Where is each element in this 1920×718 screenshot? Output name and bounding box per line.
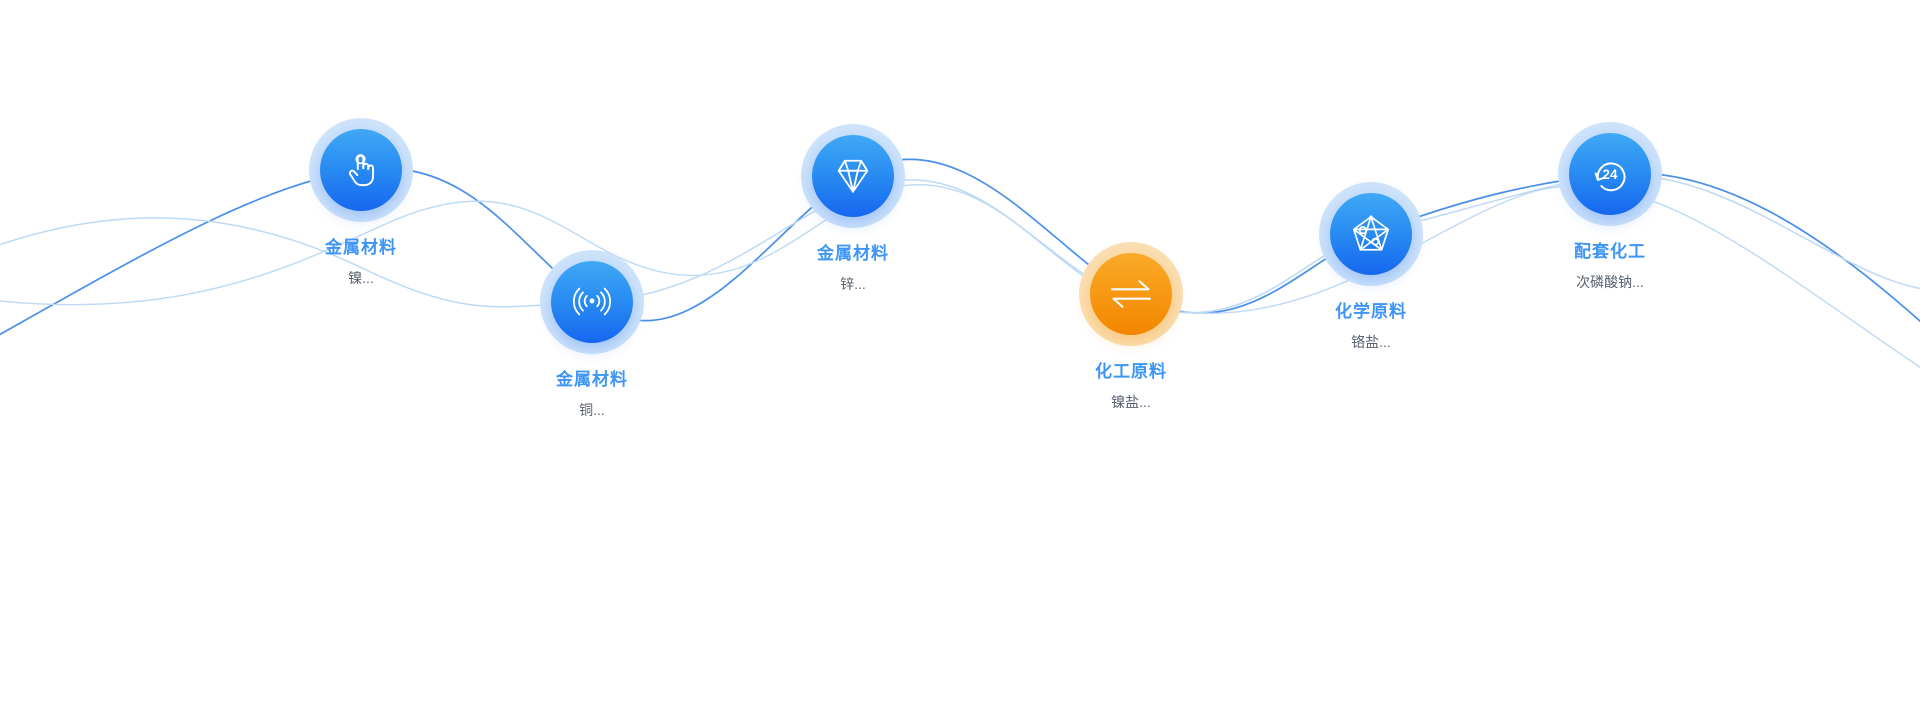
node-halo — [1319, 182, 1423, 286]
node-halo: 24 — [1558, 122, 1662, 226]
node-subtitle: 镍... — [348, 270, 374, 287]
node-disc[interactable] — [1090, 253, 1172, 335]
node-disc[interactable] — [812, 135, 894, 217]
reversible-arrows-icon — [1107, 277, 1155, 311]
node-title: 金属材料 — [325, 238, 397, 258]
flow-node-6[interactable]: 24 配套化工次磷酸钠... — [1500, 122, 1720, 291]
node-halo — [309, 118, 413, 222]
node-title: 金属材料 — [817, 244, 889, 264]
flow-node-5[interactable]: 化学原料铬盐... — [1261, 182, 1481, 351]
node-halo — [1079, 242, 1183, 346]
node-title: 化工原料 — [1095, 362, 1167, 382]
flow-node-2[interactable]: 金属材料铜... — [482, 250, 702, 419]
supply-chain-diagram: 金属材料镍... 金属材料铜... 金属材料锌... 化工原料镍盐... — [0, 0, 1920, 718]
node-title: 化学原料 — [1335, 302, 1407, 322]
node-disc[interactable] — [1330, 193, 1412, 275]
flow-node-3[interactable]: 金属材料锌... — [743, 124, 963, 293]
svg-text:24: 24 — [1603, 167, 1618, 182]
node-disc[interactable] — [320, 129, 402, 211]
node-subtitle: 铜... — [579, 402, 605, 419]
node-title: 配套化工 — [1574, 242, 1646, 262]
node-disc[interactable]: 24 — [1569, 133, 1651, 215]
node-halo — [801, 124, 905, 228]
node-subtitle: 锌... — [840, 276, 866, 293]
flow-node-1[interactable]: 金属材料镍... — [251, 118, 471, 287]
node-halo — [540, 250, 644, 354]
node-subtitle: 铬盐... — [1351, 334, 1391, 351]
node-disc[interactable] — [551, 261, 633, 343]
pentagon-molecule-icon — [1348, 212, 1394, 256]
diamond-icon — [830, 155, 876, 197]
node-subtitle: 镍盐... — [1111, 394, 1151, 411]
flow-node-4[interactable]: 化工原料镍盐... — [1021, 242, 1241, 411]
node-title: 金属材料 — [556, 370, 628, 390]
clock-24h-icon: 24 — [1587, 151, 1633, 197]
hand-pointer-icon — [339, 148, 383, 192]
connector-curves — [0, 0, 1920, 718]
node-subtitle: 次磷酸钠... — [1576, 274, 1644, 291]
signal-radar-icon — [569, 279, 615, 325]
